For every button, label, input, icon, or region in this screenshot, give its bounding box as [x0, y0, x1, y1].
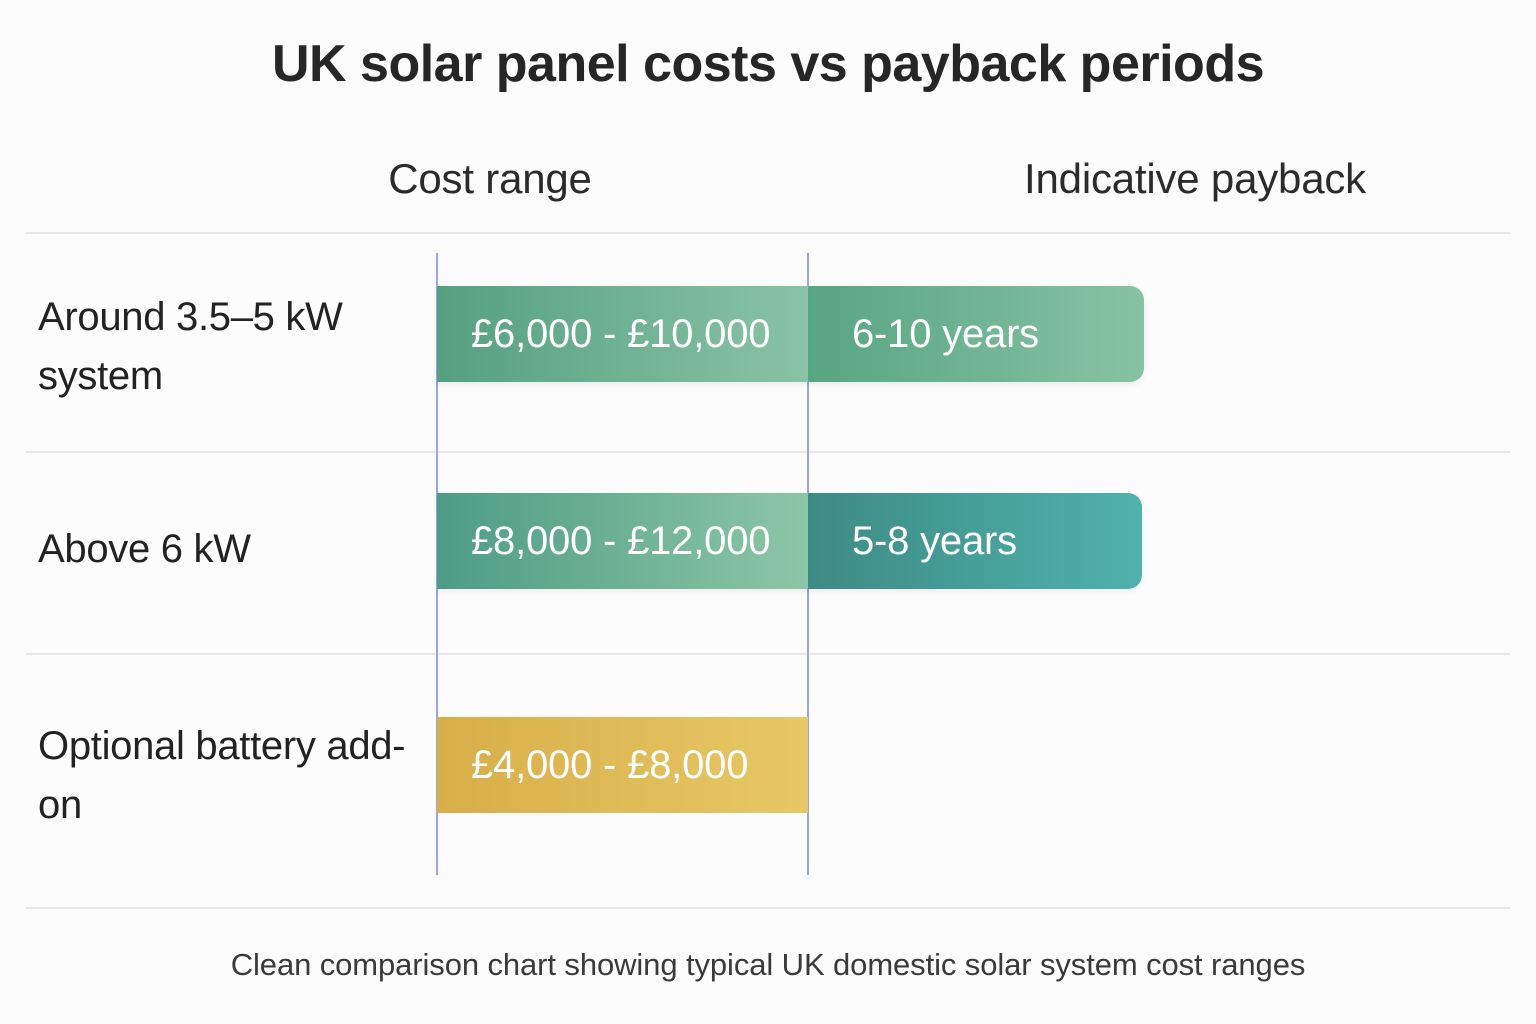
- bar-row-2: £8,000 - £12,000 5-8 years: [437, 493, 1142, 589]
- page-title: UK solar panel costs vs payback periods: [0, 34, 1536, 94]
- header-divider: [26, 232, 1510, 234]
- bar-value-cost-3: £4,000 - £8,000: [471, 743, 748, 788]
- bar-row-3: £4,000 - £8,000: [437, 717, 808, 813]
- bar-segment-cost-3: £4,000 - £8,000: [437, 717, 808, 813]
- table-row: Optional battery add-on £4,000 - £8,000: [0, 662, 1536, 878]
- row-label-system-3: Optional battery add-on: [38, 717, 418, 835]
- row-label-system-1: Around 3.5–5 kW system: [38, 288, 418, 406]
- bar-segment-cost-1: £6,000 - £10,000: [437, 286, 808, 382]
- bar-value-payback-1: 6-10 years: [852, 312, 1039, 357]
- bar-segment-payback-2: 5-8 years: [808, 493, 1142, 589]
- bar-value-payback-2: 5-8 years: [852, 519, 1017, 564]
- footer-divider: [26, 907, 1510, 909]
- bar-value-cost-1: £6,000 - £10,000: [471, 312, 770, 357]
- chart-caption: Clean comparison chart showing typical U…: [0, 947, 1536, 983]
- table-row: Above 6 kW £8,000 - £12,000 5-8 years: [0, 458, 1536, 654]
- bar-segment-payback-1: 6-10 years: [808, 286, 1144, 382]
- row-label-system-2: Above 6 kW: [38, 520, 418, 579]
- column-header-cost-range: Cost range: [290, 155, 690, 203]
- bar-segment-cost-2: £8,000 - £12,000: [437, 493, 808, 589]
- bar-row-1: £6,000 - £10,000 6-10 years: [437, 286, 1144, 382]
- column-header-indicative-payback: Indicative payback: [790, 155, 1536, 203]
- row-divider-1: [26, 451, 1510, 453]
- table-row: Around 3.5–5 kW system £6,000 - £10,000 …: [0, 246, 1536, 451]
- bar-value-cost-2: £8,000 - £12,000: [471, 519, 770, 564]
